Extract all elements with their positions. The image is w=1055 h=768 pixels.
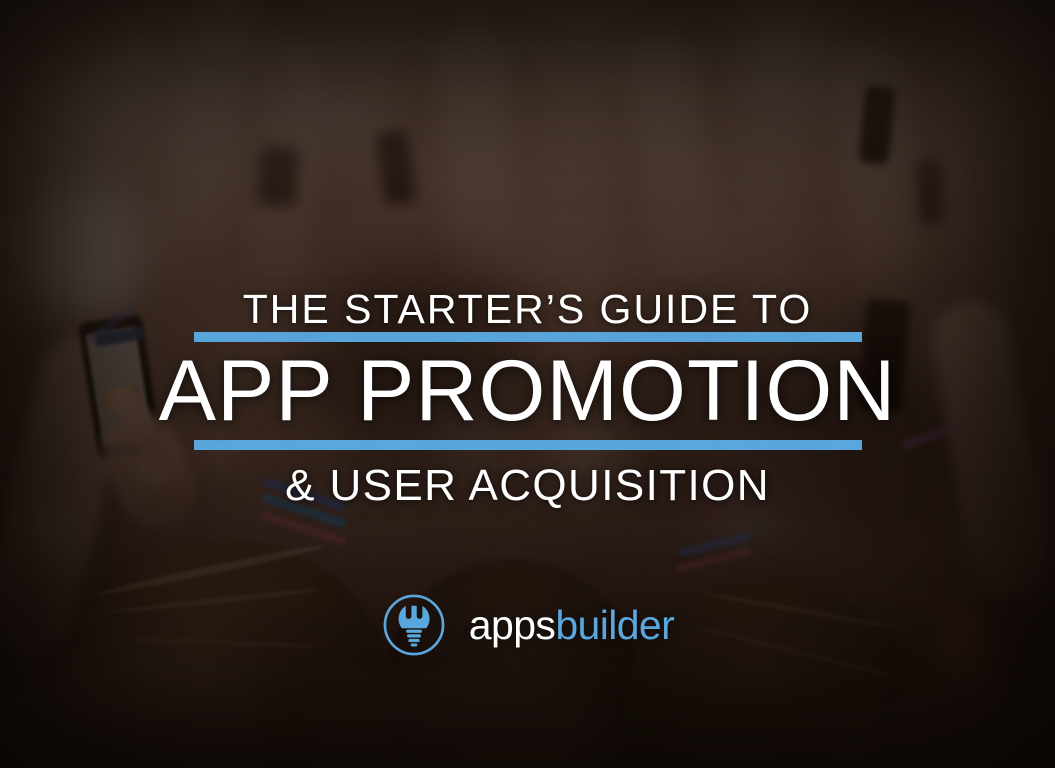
title-block: THE STARTER’S GUIDE TO APP PROMOTION & U… [0,286,1055,511]
cover-kicker: THE STARTER’S GUIDE TO [0,286,1055,332]
cover-subline: & USER ACQUISITION [0,450,1055,511]
accent-rule-bottom [194,440,862,450]
cover-slide: THE STARTER’S GUIDE TO APP PROMOTION & U… [0,0,1055,768]
brand-word-apps: apps [469,602,556,648]
brand-wordmark: appsbuilder [469,603,674,647]
cover-headline: APP PROMOTION [0,344,1055,439]
brand-logo: appsbuilder [0,592,1055,658]
accent-rule-top [194,332,862,342]
brand-word-builder: builder [555,602,674,648]
lightbulb-wrench-icon [381,592,447,658]
